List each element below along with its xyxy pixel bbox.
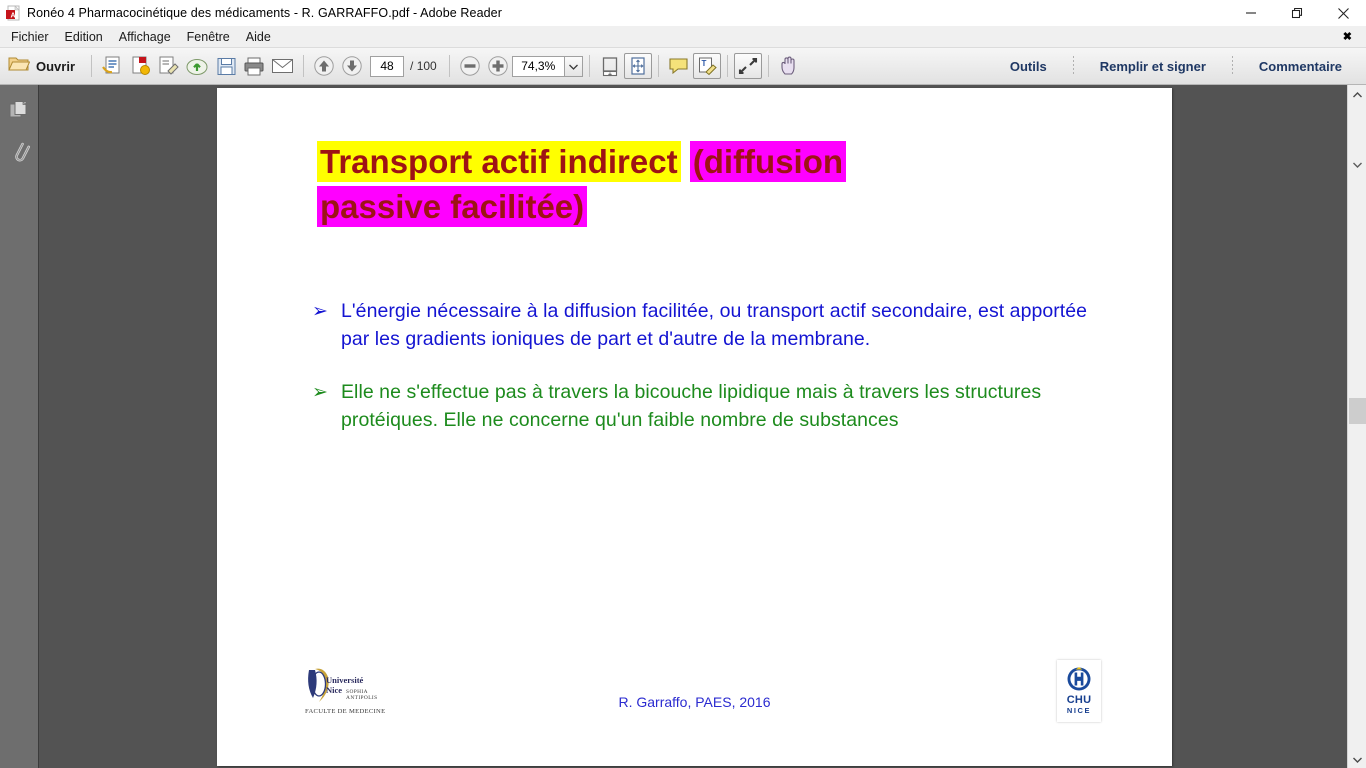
toolbar-separator <box>1073 56 1074 76</box>
list-item: ➢ Elle ne s'effectue pas à travers la bi… <box>312 379 1102 434</box>
bullet-text: Elle ne s'effectue pas à travers la bico… <box>341 379 1102 434</box>
chevron-down-icon <box>1353 750 1362 768</box>
remplir-et-signer-button[interactable]: Remplir et signer <box>1086 59 1220 74</box>
restore-button[interactable] <box>1274 0 1320 26</box>
toolbar-separator <box>91 55 92 77</box>
pdf-page: Transport actif indirect (diffusion pass… <box>217 88 1172 766</box>
chu-nice-logo: CHU NICE <box>1057 660 1101 722</box>
toolbar-separator <box>768 55 769 77</box>
page-number-input[interactable]: 48 <box>370 56 404 77</box>
view-tools-group: T <box>596 48 803 85</box>
zoom-group: 74,3% <box>456 48 583 85</box>
navigation-sidebar <box>0 85 39 768</box>
bullet-arrow-icon: ➢ <box>312 379 341 407</box>
page-total-label: / 100 <box>410 59 437 73</box>
scrollbar-thumb[interactable] <box>1349 398 1366 424</box>
page-total-value: 100 <box>417 59 437 73</box>
fit-width-icon[interactable] <box>624 53 652 79</box>
scroll-up-button[interactable] <box>1348 85 1366 103</box>
open-button-label: Ouvrir <box>36 59 75 74</box>
fit-page-icon[interactable] <box>596 51 624 81</box>
zoom-dropdown-button[interactable] <box>564 56 583 77</box>
edit-pdf-icon[interactable] <box>154 51 182 81</box>
combine-files-icon[interactable] <box>126 51 154 81</box>
toolbar-separator <box>449 55 450 77</box>
universite-nice-sophia-antipolis-logo: Université Nice SOPHIA ANTIPOLIS FACULTE… <box>305 666 389 720</box>
page-separator: / <box>410 59 413 73</box>
bullet-arrow-icon: ➢ <box>312 298 341 326</box>
menubar-close-icon[interactable]: ✖ <box>1343 30 1352 43</box>
chu-line2: NICE <box>1067 706 1091 715</box>
page-thumbnails-icon[interactable] <box>4 95 34 127</box>
minus-circle-icon[interactable] <box>456 51 484 81</box>
toolbar-separator <box>727 55 728 77</box>
uns-line4: FACULTE DE MEDECINE <box>305 708 385 715</box>
uns-line1: Université <box>326 675 389 685</box>
minimize-button[interactable] <box>1228 0 1274 26</box>
attachments-icon[interactable] <box>4 135 34 167</box>
page-navigation-group: 48 / 100 <box>310 48 443 85</box>
arrow-up-icon[interactable] <box>310 51 338 81</box>
chevron-down-icon <box>1353 155 1362 173</box>
menu-aide[interactable]: Aide <box>238 26 279 48</box>
email-icon[interactable] <box>268 51 297 81</box>
slide-title-part-magenta-1: (diffusion <box>690 141 846 182</box>
read-mode-icon[interactable] <box>734 53 762 79</box>
scroll-down-button[interactable] <box>1348 750 1366 768</box>
commentaire-button[interactable]: Commentaire <box>1245 59 1356 74</box>
window-titlebar: A Ronéo 4 Pharmacocinétique des médicame… <box>0 0 1366 26</box>
open-button[interactable]: Ouvrir <box>0 51 85 81</box>
toolbar-separator <box>589 55 590 77</box>
list-item: ➢ L'énergie nécessaire à la diffusion fa… <box>312 298 1102 353</box>
window-title: Ronéo 4 Pharmacocinétique des médicament… <box>27 6 502 20</box>
svg-text:A: A <box>11 13 16 20</box>
file-actions-group <box>98 48 297 85</box>
plus-circle-icon[interactable] <box>484 51 512 81</box>
menu-fenetre[interactable]: Fenêtre <box>179 26 238 48</box>
hand-tool-icon[interactable] <box>775 51 803 81</box>
folder-open-icon <box>8 55 30 78</box>
send-to-cloud-icon[interactable] <box>182 51 212 81</box>
close-button[interactable] <box>1320 0 1366 26</box>
uns-line3: SOPHIA ANTIPOLIS <box>346 689 389 701</box>
menubar: Fichier Edition Affichage Fenêtre Aide ✖ <box>0 26 1366 48</box>
chevron-up-icon <box>1353 85 1362 103</box>
chevron-down-icon <box>569 57 578 75</box>
toolbar-separator <box>1232 56 1233 76</box>
menu-fichier[interactable]: Fichier <box>3 26 57 48</box>
highlight-text-icon[interactable]: T <box>693 53 721 79</box>
toolbar-separator <box>658 55 659 77</box>
bullet-text: L'énergie nécessaire à la diffusion faci… <box>341 298 1102 353</box>
slide-title-part-magenta-2: passive facilitée) <box>317 186 587 227</box>
slide-title: Transport actif indirect (diffusion pass… <box>317 139 1117 229</box>
vertical-scrollbar[interactable] <box>1347 85 1366 768</box>
outils-button[interactable]: Outils <box>996 59 1061 74</box>
print-icon[interactable] <box>240 51 268 81</box>
toolbar-separator <box>303 55 304 77</box>
menu-affichage[interactable]: Affichage <box>111 26 179 48</box>
window-controls <box>1228 0 1366 26</box>
chu-emblem-icon <box>1066 666 1092 692</box>
create-pdf-icon[interactable] <box>98 51 126 81</box>
slide-title-part-yellow: Transport actif indirect <box>317 141 681 182</box>
toolbar-right-links: Outils Remplir et signer Commentaire <box>996 56 1366 76</box>
document-view[interactable]: Transport actif indirect (diffusion pass… <box>39 85 1347 768</box>
save-icon[interactable] <box>212 51 240 81</box>
slide-bullet-list: ➢ L'énergie nécessaire à la diffusion fa… <box>312 298 1102 461</box>
svg-text:T: T <box>701 59 706 68</box>
zoom-level-input[interactable]: 74,3% <box>512 56 564 77</box>
pdf-icon: A <box>5 5 21 21</box>
uns-line2: Nice <box>326 685 342 695</box>
sticky-note-icon[interactable] <box>665 51 693 81</box>
menu-edition[interactable]: Edition <box>57 26 111 48</box>
chu-line1: CHU <box>1067 694 1091 706</box>
scroll-page-down-button[interactable] <box>1348 155 1366 173</box>
main-toolbar: Ouvrir <box>0 48 1366 85</box>
arrow-down-icon[interactable] <box>338 51 366 81</box>
